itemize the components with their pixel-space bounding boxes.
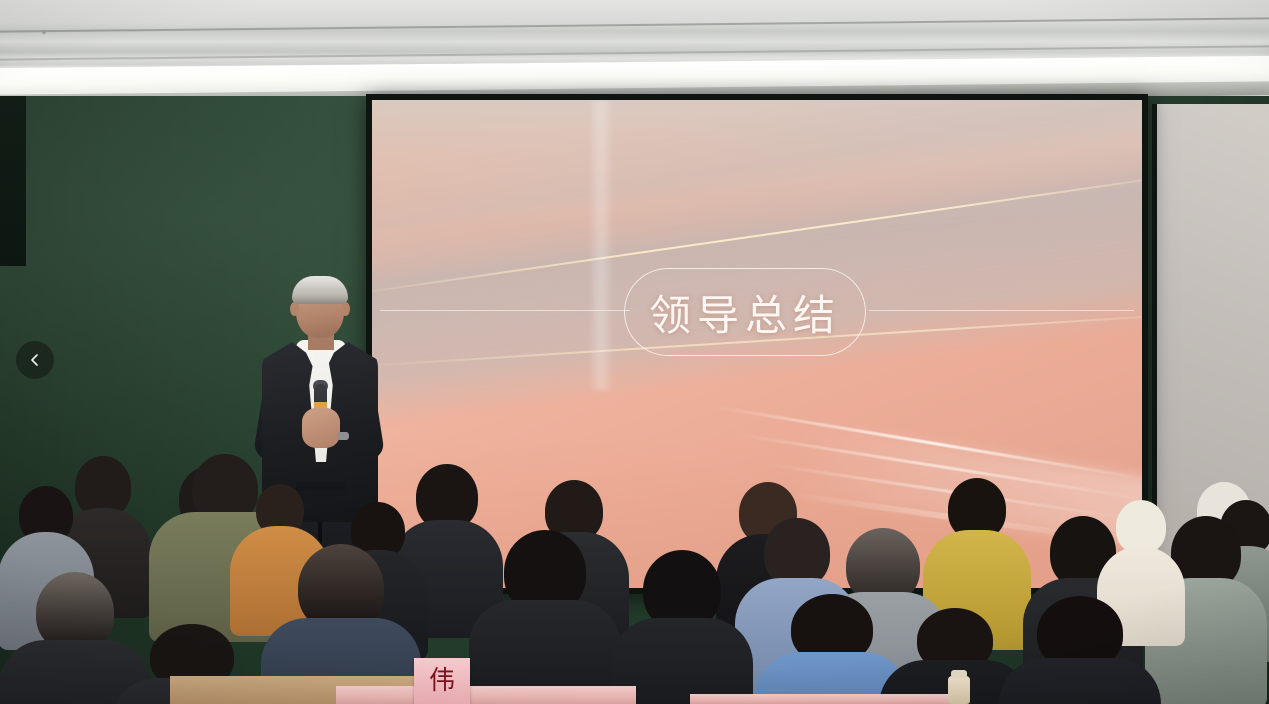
- slide-title-pill: 领导总结: [624, 268, 866, 356]
- ceiling: [0, 0, 1269, 104]
- audience-person: [470, 530, 620, 704]
- bottle-cap: [951, 670, 967, 678]
- ceiling-screw: [42, 30, 46, 34]
- speaker-ear: [290, 302, 299, 316]
- name-card-text: 伟: [429, 668, 455, 694]
- front-table-pink: [336, 686, 636, 704]
- speaker-watch: [337, 432, 349, 440]
- speaker-ear: [341, 302, 350, 316]
- speaker-hair: [292, 276, 348, 304]
- audience-person: [612, 550, 752, 704]
- front-table-pink: [690, 694, 950, 704]
- water-bottle: [948, 676, 970, 704]
- name-card: 伟: [414, 658, 470, 704]
- screen-vertical-sheen: [588, 100, 614, 390]
- chevron-left-icon: [28, 353, 42, 367]
- previous-image-button[interactable]: [16, 341, 54, 379]
- slide-rule-left: [380, 310, 630, 311]
- slide-title: 领导总结: [649, 282, 841, 343]
- wall-dark-corner: [0, 96, 26, 266]
- audience-person: [1000, 596, 1160, 704]
- audience: [0, 440, 1269, 704]
- person-body: [999, 658, 1161, 704]
- ceiling-seam: [0, 17, 1269, 32]
- photo-viewer: 领导总结: [0, 0, 1269, 704]
- slide-rule-right: [869, 310, 1134, 311]
